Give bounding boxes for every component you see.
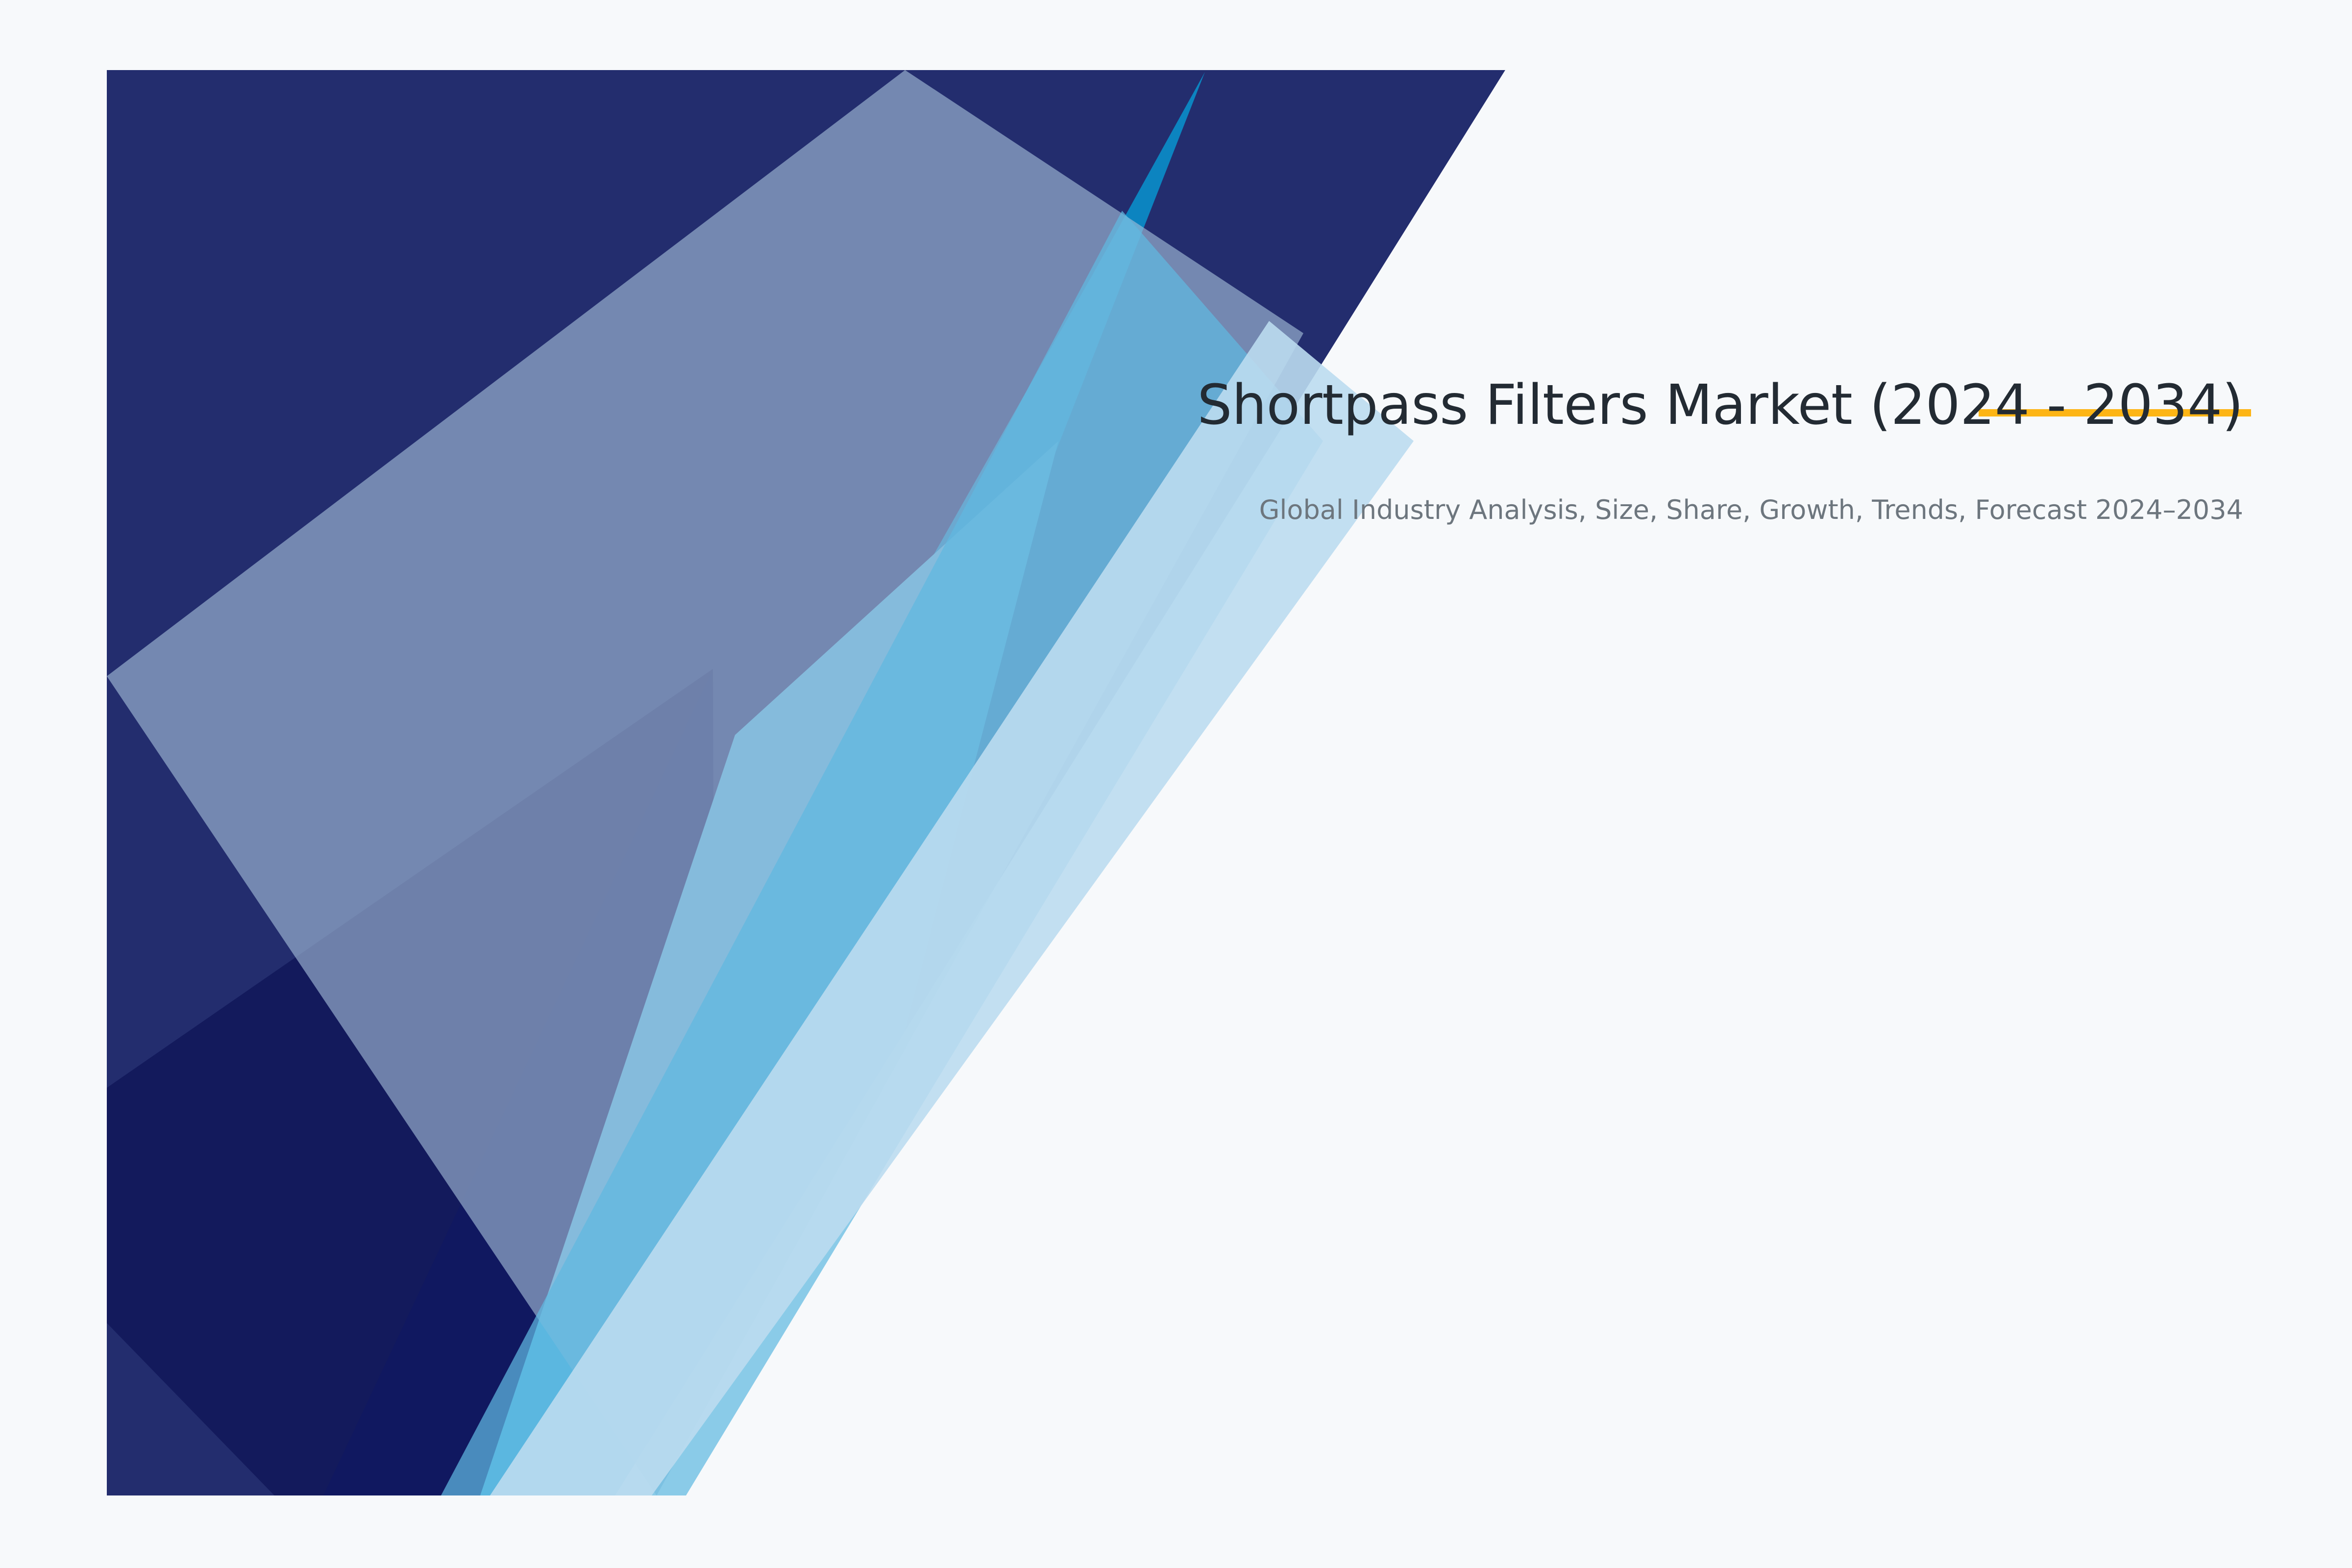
page-title: Shortpass Filters Market (2024 - 2034) (969, 372, 2243, 438)
report-cover: Shortpass Filters Market (2024 - 2034) G… (0, 0, 2352, 1568)
title-wrapper: Shortpass Filters Market (2024 - 2034) (969, 372, 2243, 438)
page-subtitle: Global Industry Analysis, Size, Share, G… (969, 438, 2243, 527)
abstract-geometric-artwork (0, 0, 2352, 1568)
cover-text-block: Shortpass Filters Market (2024 - 2034) G… (969, 372, 2243, 528)
